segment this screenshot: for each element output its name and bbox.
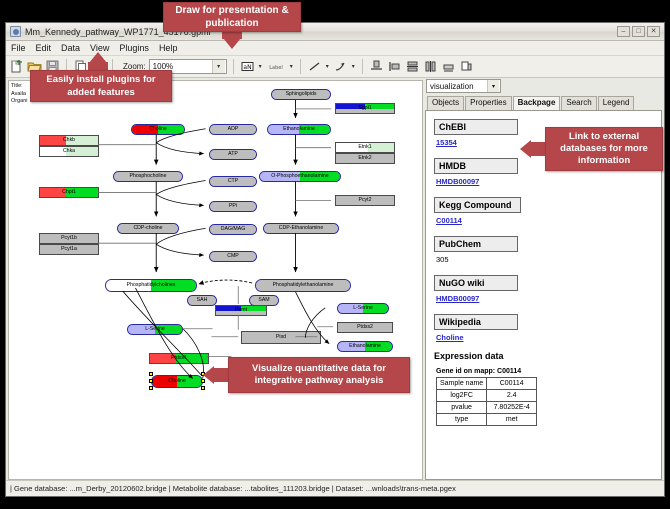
db-value-pubchem: 305 [436,255,653,264]
callout-external-db-arrow [520,140,531,158]
expression-row-value: met [487,414,537,426]
new-file-icon[interactable] [9,59,24,74]
expression-row-label: Sample name [437,378,487,390]
selection-handle[interactable] [201,386,205,390]
chevron-down-icon[interactable]: ▾ [290,63,293,70]
interaction-icon[interactable] [333,59,348,74]
menu-item-file[interactable]: File [10,43,27,53]
visualization-select[interactable]: visualization ▾ [426,79,501,93]
expression-row-label: type [437,414,487,426]
selection-handle[interactable] [149,379,153,383]
selection-handle[interactable] [149,372,153,376]
chevron-down-icon[interactable]: ▾ [352,63,355,70]
expression-row-value: 2.4 [487,390,537,402]
node-label: Pisd [276,335,286,340]
node-label: Chka [63,149,75,154]
size-equal-icon[interactable] [441,59,456,74]
node-label: DAG/MAG [221,227,246,232]
node-label: Etnk2 [358,156,371,161]
node-label: Ethanolamine [283,127,315,132]
node-label: Pcyt1a [61,247,77,252]
db-label-wikipedia: Wikipedia [434,314,518,330]
node-label: Pcyt2 [359,198,372,203]
node-label: Phosphocholine [130,174,167,179]
toolbar-separator [300,59,301,74]
table-row: typemet [437,414,537,426]
node-label: ADP [228,127,239,132]
label-icon[interactable]: Label [266,59,286,74]
expression-row-value: 7.80252E-4 [487,402,537,414]
maximize-button[interactable]: □ [632,26,645,37]
visualization-value: visualization [430,82,474,91]
menu-item-plugins[interactable]: Plugins [118,43,150,53]
db-value-nugo-wiki[interactable]: HMDB00097 [436,294,653,303]
node-label: CDP-Ethanolamine [279,226,323,231]
toolbar-separator [233,59,234,74]
meta-organism-label: Organi [11,98,28,106]
selection-handle[interactable] [149,386,153,390]
bring-front-icon[interactable] [459,59,474,74]
pathway-canvas[interactable]: Title: Availa Organi [8,80,423,480]
tab-search[interactable]: Search [561,96,596,110]
node-label: Choline [149,127,167,132]
close-button[interactable]: ✕ [647,26,660,37]
callout-plugins: Easily install plugins for added feature… [30,70,172,102]
chevron-down-icon[interactable]: ▾ [326,63,329,70]
expression-data-heading: Expression data [434,351,653,361]
node-label: Ptdss1 [171,356,187,361]
application-icon [10,26,21,37]
node-label: PPi [229,204,237,209]
node-label: Phosphatidylethanolamine [273,283,334,288]
db-label-kegg-compound: Kegg Compound [434,197,521,213]
node-label: L-Serine [145,327,165,332]
db-value-hmdb[interactable]: HMDB00097 [436,177,653,186]
expression-data-table: Sample nameC00114log2FC2.4pvalue7.80252E… [436,377,537,426]
node-label: Etnk1 [358,145,371,150]
toolbar-separator [362,59,363,74]
tab-objects[interactable]: Objects [427,96,464,110]
gene-id-label: Gene id on mapp: C00114 [436,368,653,375]
db-label-chebi: ChEBI [434,119,518,135]
align-left-icon[interactable] [387,59,402,74]
node-label: CDP-choline [133,226,162,231]
chevron-down-icon[interactable]: ▾ [212,60,225,73]
callout-quantitative: Visualize quantitative data for integrat… [228,357,410,393]
stack-vertical-icon[interactable] [405,59,420,74]
status-text: | Gene database: ...m_Derby_20120602.bri… [10,484,456,493]
node-label: Pcyt1b [61,236,77,241]
node-label: CTP [228,179,238,184]
node-label: SAH [197,298,208,303]
node-label: Ptdss2 [357,325,373,330]
pathway-metadata: Title: Availa Organi [11,83,28,106]
line-icon[interactable] [307,59,322,74]
node-label: Sphingolipids [286,92,317,97]
db-label-pubchem: PubChem [434,236,518,252]
table-row: log2FC2.4 [437,390,537,402]
menu-item-edit[interactable]: Edit [35,43,53,53]
expression-row-label: log2FC [437,390,487,402]
db-value-wikipedia[interactable]: Choline [436,333,653,342]
svg-text:aN: aN [243,64,251,71]
callout-draw-arrow [223,38,241,49]
status-bar: | Gene database: ...m_Derby_20120602.bri… [6,480,664,496]
node-label: Sgpl1 [358,106,371,111]
chevron-down-icon[interactable]: ▾ [487,80,499,92]
node-label: Chkb [63,138,75,143]
menu-item-help[interactable]: Help [158,43,179,53]
meta-title-label: Title: [11,83,28,91]
node-label: L-Serine [353,306,373,311]
node-label: O-Phosphoethanolamine [271,174,328,179]
node-label: ATP [228,152,238,157]
window-controls[interactable]: – □ ✕ [617,26,660,37]
tab-backpage[interactable]: Backpage [513,96,561,111]
node-label: Chpt1 [62,190,76,195]
node-label: Choline [168,379,186,384]
title-bar: Mm_Kennedy_pathway_WP1771_45176.gpml – □… [6,23,664,41]
stack-horizontal-icon[interactable] [423,59,438,74]
node-label: SAM [258,298,269,303]
menu-item-data[interactable]: Data [60,43,81,53]
expression-row-label: pvalue [437,402,487,414]
expression-row-value: C00114 [487,378,537,390]
meta-available-label: Availa [11,91,28,99]
callout-quantitative-arrow [203,366,214,384]
minimize-button[interactable]: – [617,26,630,37]
side-tabs[interactable]: Objects Properties Backpage Search Legen… [425,95,662,110]
callout-plugins-arrow [89,52,107,63]
callout-external-db: Link to external databases for more info… [545,127,663,171]
datanode-icon[interactable]: aN [240,59,255,74]
tab-properties[interactable]: Properties [465,96,511,110]
db-label-hmdb: HMDB [434,158,518,174]
table-row: pvalue7.80252E-4 [437,402,537,414]
node-label: Phosphatidylcholines [127,283,176,288]
node-label: Pemt [235,308,247,313]
align-top-icon[interactable] [369,59,384,74]
node-label: CMP [227,254,239,259]
node-label: Ethanolamine [349,344,381,349]
db-label-nugo-wiki: NuGO wiki [434,275,518,291]
table-row: Sample nameC00114 [437,378,537,390]
svg-text:Label: Label [269,65,283,71]
db-value-kegg-compound[interactable]: C00114 [436,216,653,225]
callout-draw: Draw for presentation & publication [163,2,301,32]
tab-legend[interactable]: Legend [598,96,635,110]
chevron-down-icon[interactable]: ▾ [259,63,262,70]
